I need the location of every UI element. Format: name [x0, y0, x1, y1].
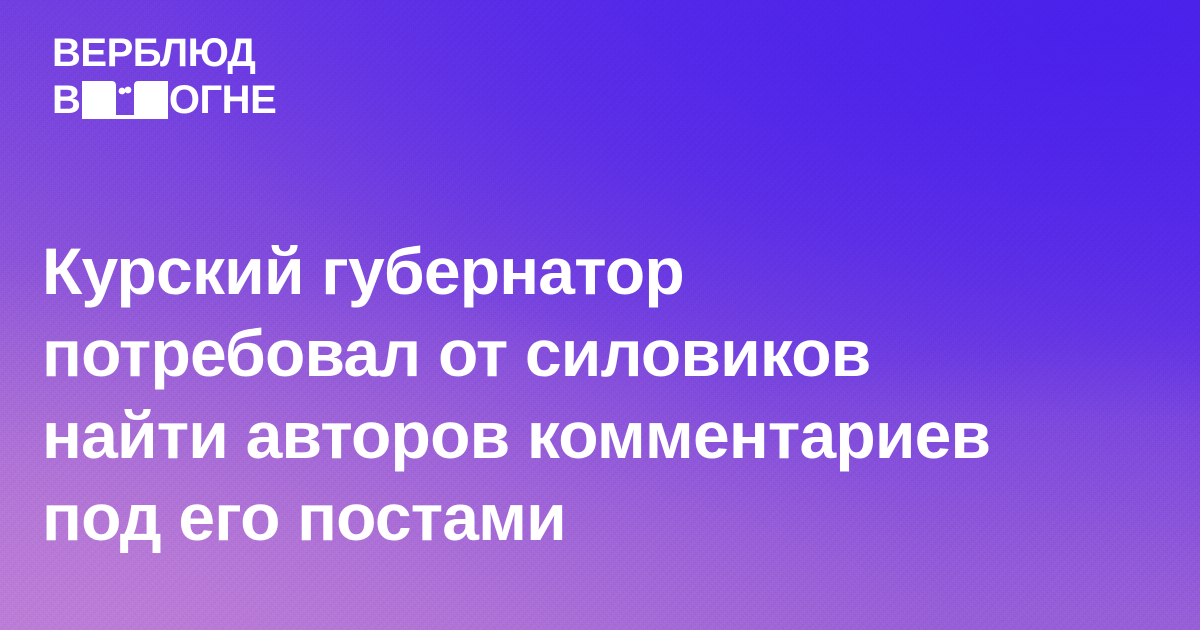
- headline-line-1: Курский губернатор: [42, 230, 1152, 312]
- logo-word-ogne: ОГНЕ: [169, 81, 276, 119]
- site-logo[interactable]: ВЕРБЛЮД В ОГНЕ: [52, 33, 332, 119]
- flame-icon: [82, 81, 168, 119]
- headline-line-3: найти авторов комментариев: [42, 394, 1152, 476]
- headline-line-2: потребовал от силовиков: [42, 312, 1152, 394]
- social-share-card: ВЕРБЛЮД В ОГНЕ: [0, 0, 1200, 630]
- logo-line-v-ogne: В ОГНЕ: [52, 81, 332, 119]
- card-content: ВЕРБЛЮД В ОГНЕ: [0, 0, 1200, 630]
- logo-preposition-v: В: [52, 81, 81, 119]
- logo-line-verblyud: ВЕРБЛЮД: [52, 33, 332, 73]
- page-title: Курский губернатор потребовал от силовик…: [42, 230, 1152, 558]
- headline-line-4: под его постами: [42, 476, 1152, 558]
